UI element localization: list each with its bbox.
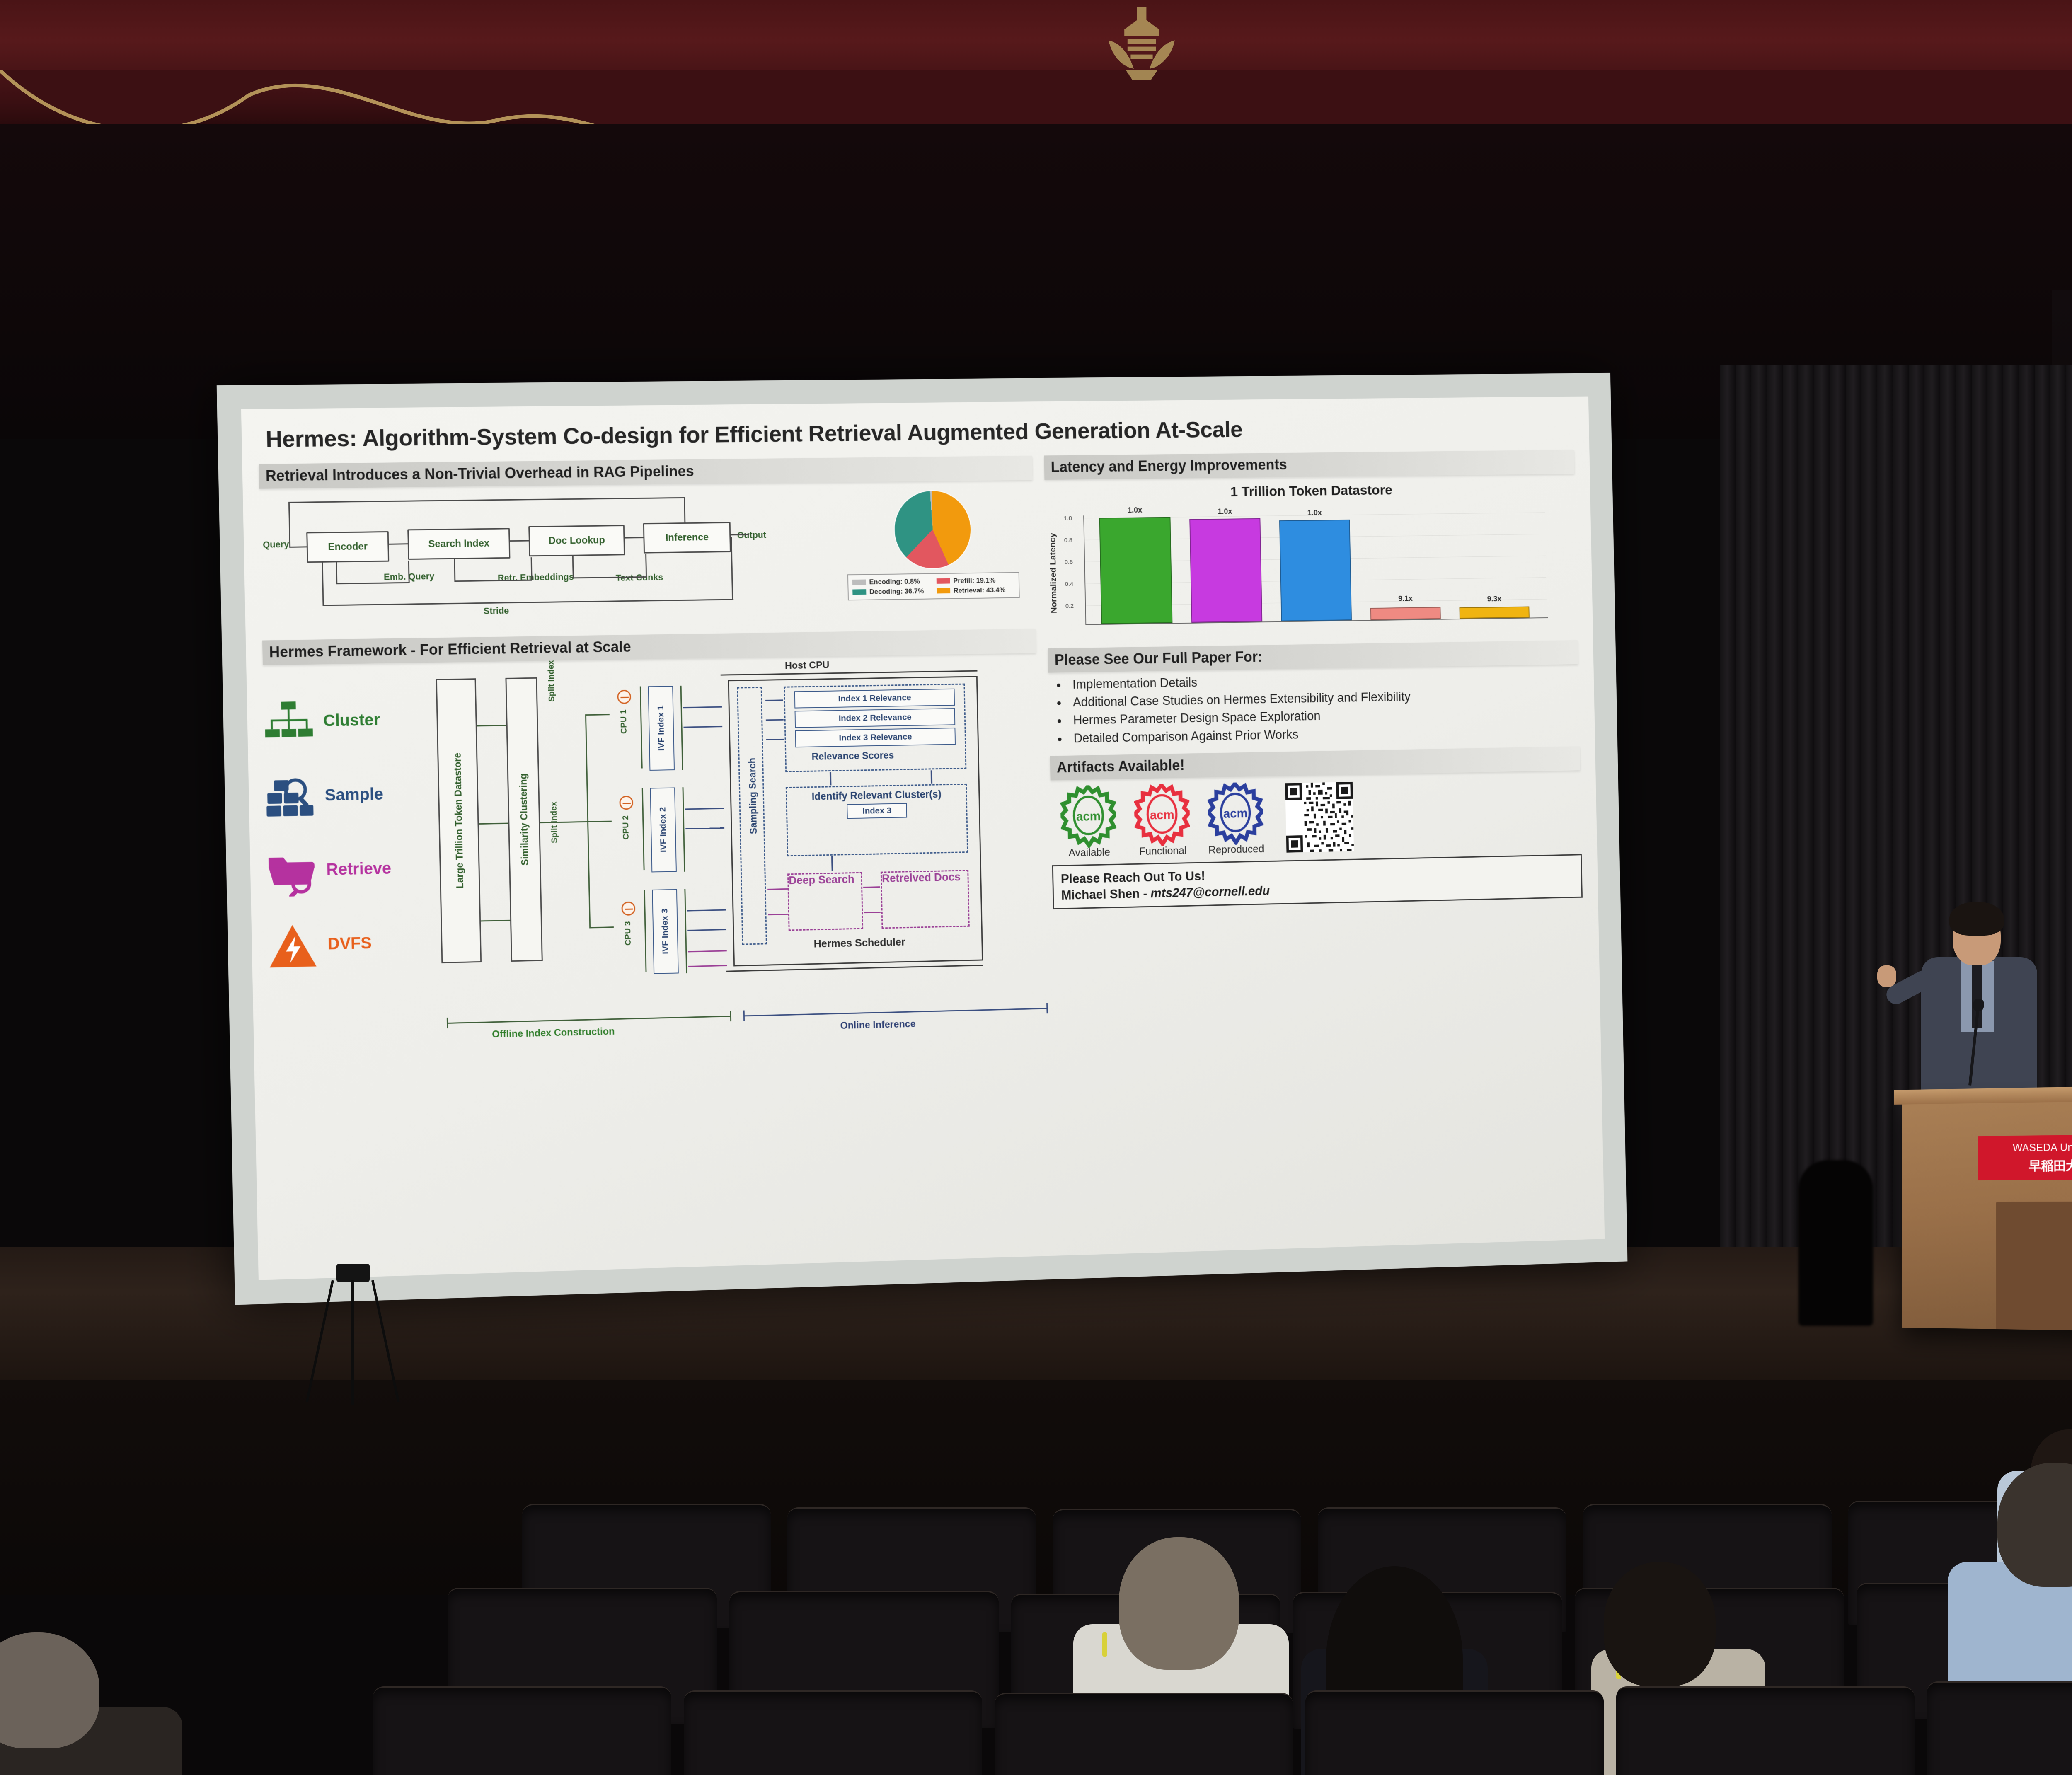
legend-item-decoding: Decoding: 36.7% xyxy=(852,587,931,596)
sampling-search-container: Sampling Search xyxy=(737,687,767,945)
shadow-figure xyxy=(1798,1160,1873,1326)
projected-slide: Hermes: Algorithm-System Co-design for E… xyxy=(241,397,1605,1280)
bar-label-3: 1.0x xyxy=(1279,508,1350,518)
feature-retrieve: Retrieve xyxy=(266,831,440,909)
label-cpu-3: CPU 3 xyxy=(623,921,633,946)
deep-search-group: Deep Search xyxy=(787,872,863,931)
seat[interactable] xyxy=(1616,1686,1915,1775)
pie-legend: Encoding: 0.8% Prefill: 19.1% Decoding: … xyxy=(847,572,1020,600)
hermes-architecture-diagram: Large Trillion Token Datastore Similarit… xyxy=(436,659,1043,998)
legend-swatch-prefill xyxy=(937,578,950,584)
bar-label-4: 9.1x xyxy=(1370,594,1441,604)
section-header-latency: Latency and Energy Improvements xyxy=(1044,450,1574,480)
seat[interactable] xyxy=(373,1686,671,1775)
pipeline-edge-retr-embeddings: Retr. Embeddings xyxy=(498,571,574,583)
legend-label-prefill: Prefill: 19.1% xyxy=(953,576,995,585)
bar-label-1: 1.0x xyxy=(1099,505,1170,515)
red-valance-curtain xyxy=(0,0,2072,137)
y-tick-1-0: 1.0 xyxy=(1064,515,1072,522)
section-header-artifacts: Artifacts Available! xyxy=(1050,746,1580,780)
waseda-crest-icon xyxy=(1094,4,1189,83)
power-bolt-icon xyxy=(268,921,318,969)
relevance-row-2: Index 2 Relevance xyxy=(795,708,956,728)
label-cpu-2: CPU 2 xyxy=(621,815,631,840)
legend-swatch-decoding xyxy=(852,589,866,595)
seat[interactable] xyxy=(684,1690,982,1775)
pipeline-box-inference: Inference xyxy=(643,522,731,553)
contact-email[interactable]: mts247@cornell.edu xyxy=(1150,883,1270,900)
rag-pipeline-diagram: Encoder Search Index Doc Lookup Inferenc… xyxy=(259,488,844,623)
acm-seal-reproduced-icon: acm xyxy=(1208,782,1264,843)
box-large-datastore: Large Trillion Token Datastore xyxy=(436,678,482,963)
chart-title: 1 Trillion Token Datastore xyxy=(1045,480,1575,502)
retrieved-docs-group: Retrelved Docs xyxy=(881,870,970,929)
bar-series-1 xyxy=(1099,517,1173,624)
label-cpu-1: CPU 1 xyxy=(619,709,629,734)
label-hermes-scheduler: Hermes Scheduler xyxy=(813,936,905,950)
audience-seating xyxy=(0,1400,2072,1775)
box-similarity-clustering: Similarity Clustering xyxy=(505,677,542,962)
seat[interactable] xyxy=(1305,1690,1604,1775)
y-tick-0-2: 0.2 xyxy=(1065,602,1074,609)
legend-swatch-encoding xyxy=(852,580,866,585)
attendee-head xyxy=(0,1632,99,1748)
legend-item-retrieval: Retrieval: 43.4% xyxy=(937,586,1015,595)
box-ivf-index-2: IVF Index 2 xyxy=(650,787,677,872)
label-relevance-scores: Relevance Scores xyxy=(811,750,894,763)
bar-series-5 xyxy=(1460,606,1530,619)
box-ivf-index-1: IVF Index 1 xyxy=(648,686,675,771)
section-header-framework: Hermes Framework - For Efficient Retriev… xyxy=(262,629,1036,665)
pipeline-loop-label: Stride xyxy=(484,605,509,617)
cpu-power-icon-1 xyxy=(617,690,631,704)
identify-clusters-group: Identify Relevant Cluster(s) Index 3 xyxy=(786,784,968,856)
y-tick-0-4: 0.4 xyxy=(1065,580,1073,588)
rag-pipeline-panel: Encoder Search Index Doc Lookup Inferenc… xyxy=(259,486,1036,631)
lectern: WASEDA University 早稲田大学 xyxy=(1902,1095,2072,1332)
feature-label-retrieve: Retrieve xyxy=(326,859,392,879)
qr-code[interactable] xyxy=(1285,782,1354,853)
framework-feature-list: Cluster xyxy=(263,668,442,1019)
legend-item-encoding: Encoding: 0.8% xyxy=(852,577,931,586)
presenter-hair xyxy=(1949,902,2004,936)
hermes-framework-panel: Cluster xyxy=(263,659,1043,1019)
y-tick-0-8: 0.8 xyxy=(1064,537,1072,544)
lectern-front-panel xyxy=(1996,1202,2072,1331)
seat[interactable] xyxy=(995,1693,1293,1775)
feature-label-sample: Sample xyxy=(324,785,383,805)
camera-tripod-left xyxy=(315,1264,390,1400)
legend-label-retrieval: Retrieval: 43.4% xyxy=(954,586,1006,595)
contact-name: Michael Shen - xyxy=(1061,886,1150,902)
section-header-full-paper: Please See Our Full Paper For: xyxy=(1048,640,1578,673)
presenter-hand xyxy=(1877,965,1896,987)
chart-bars: 1.0x 1.0x 1.0x 9.1x 9.3x xyxy=(1084,510,1549,624)
bar-label-2: 1.0x xyxy=(1189,507,1261,517)
section-header-overhead: Retrieval Introduces a Non-Trivial Overh… xyxy=(259,455,1033,488)
box-ivf-index-3: IVF Index 3 xyxy=(652,889,679,974)
label-online-inference: Online Inference xyxy=(840,1018,915,1032)
podium-sign-line-en: WASEDA University xyxy=(2013,1141,2072,1154)
acm-badge-reproduced: acm Reproduced xyxy=(1205,782,1266,856)
bar-series-4 xyxy=(1370,607,1441,620)
relevance-row-1: Index 1 Relevance xyxy=(794,688,955,708)
slide-content: Hermes: Algorithm-System Co-design for E… xyxy=(241,397,1605,1280)
left-column: Retrieval Introduces a Non-Trivial Overh… xyxy=(259,447,1043,1049)
legend-label-encoding: Encoding: 0.8% xyxy=(869,577,920,586)
pie-slices xyxy=(894,491,971,569)
acm-badge-available: acm Available xyxy=(1058,785,1120,859)
relevance-row-3: Index 3 Relevance xyxy=(795,728,956,747)
feature-label-dvfs: DVFS xyxy=(327,934,372,953)
svg-text:acm: acm xyxy=(1223,806,1248,820)
blocks-magnifier-icon xyxy=(265,773,315,820)
attendee-lanyard xyxy=(1102,1632,1107,1657)
bar-series-2 xyxy=(1190,518,1263,622)
projection-screen: Hermes: Algorithm-System Co-design for E… xyxy=(217,373,1628,1305)
label-host-cpu: Host CPU xyxy=(785,660,830,672)
acm-badges-row: acm Available acm F xyxy=(1051,776,1581,860)
right-column: Latency and Energy Improvements 1 Trilli… xyxy=(1044,441,1585,1030)
attendee-head xyxy=(1119,1537,1239,1670)
legend-swatch-retrieval xyxy=(937,588,950,593)
latency-bar-chart: Normalized Latency 0.2 0.4 0.6 0.8 1.0 xyxy=(1045,499,1577,639)
seat[interactable] xyxy=(1927,1681,2072,1775)
legend-item-prefill: Prefill: 19.1% xyxy=(937,576,1015,585)
identify-cluster-value: Index 3 xyxy=(847,803,907,819)
y-tick-0-6: 0.6 xyxy=(1065,559,1073,566)
pipeline-box-encoder: Encoder xyxy=(306,531,389,563)
feature-sample: Sample xyxy=(265,756,439,834)
podium-sign-line-jp: 早稲田大学 xyxy=(2028,1155,2072,1174)
feature-dvfs: DVFS xyxy=(268,905,442,983)
full-paper-bullet-list: Implementation Details Additional Case S… xyxy=(1048,668,1579,747)
pipeline-input-label: Query xyxy=(263,539,289,550)
label-identify-clusters: Identify Relevant Cluster(s) xyxy=(787,785,966,803)
folder-magnifier-icon xyxy=(266,847,316,894)
acm-seal-functional-icon: acm xyxy=(1134,784,1190,844)
label-split-index-top: Split Index xyxy=(547,660,557,702)
attendee-head xyxy=(1604,1562,1716,1686)
cpu-power-icon-3 xyxy=(621,901,635,915)
presenter xyxy=(1906,903,2055,1110)
acm-badge-functional: acm Functional xyxy=(1132,784,1193,858)
acm-seal-available-icon: acm xyxy=(1060,785,1117,846)
podium-university-sign: WASEDA University 早稲田大学 xyxy=(1978,1134,2072,1180)
svg-text:acm: acm xyxy=(1076,809,1101,823)
label-offline-index-construction: Offline Index Construction xyxy=(492,1026,615,1040)
bar-label-5: 9.3x xyxy=(1459,594,1529,604)
pipeline-box-search-index: Search Index xyxy=(407,528,510,560)
feature-label-cluster: Cluster xyxy=(323,711,380,730)
rag-overhead-pie-chart: Encoding: 0.8% Prefill: 19.1% Decoding: … xyxy=(846,487,1020,600)
svg-text:acm: acm xyxy=(1150,808,1174,822)
chart-y-axis-label: Normalized Latency xyxy=(1048,522,1060,624)
bar-series-3 xyxy=(1279,520,1352,621)
feature-cluster: Cluster xyxy=(263,682,437,759)
cpu-power-icon-2 xyxy=(619,796,633,810)
slide-columns: Retrieval Introduces a Non-Trivial Overh… xyxy=(259,441,1585,1049)
hierarchy-icon xyxy=(264,698,313,745)
contact-box: Please Reach Out To Us! Michael Shen - m… xyxy=(1052,854,1583,909)
legend-label-decoding: Decoding: 36.7% xyxy=(869,587,924,596)
pipeline-box-doc-lookup: Doc Lookup xyxy=(528,525,625,556)
